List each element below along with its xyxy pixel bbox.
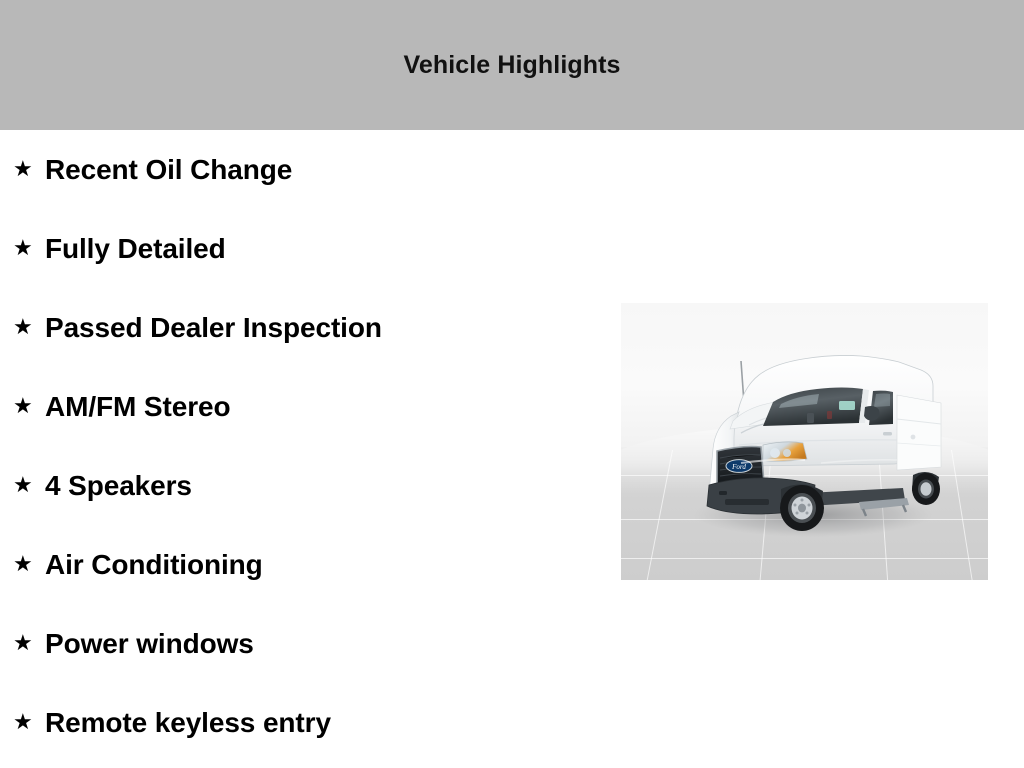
highlight-label: 4 Speakers: [45, 470, 600, 502]
list-item: ★ 4 Speakers: [0, 446, 600, 525]
list-item: ★ Passed Dealer Inspection: [0, 288, 600, 367]
highlight-label: AM/FM Stereo: [45, 391, 600, 423]
star-icon: ★: [13, 237, 45, 259]
highlight-label: Remote keyless entry: [45, 707, 600, 739]
star-icon: ★: [13, 474, 45, 496]
list-item: ★ Remote keyless entry: [0, 683, 600, 762]
star-icon: ★: [13, 553, 45, 575]
page-title: Vehicle Highlights: [0, 0, 1024, 130]
vehicle-highlights-list: ★ Recent Oil Change ★ Fully Detailed ★ P…: [0, 130, 600, 762]
header-bar: Vehicle Highlights: [0, 0, 1024, 130]
list-item: ★ AM/FM Stereo: [0, 367, 600, 446]
star-icon: ★: [13, 632, 45, 654]
list-item: ★ Recent Oil Change: [0, 130, 600, 209]
highlight-label: Passed Dealer Inspection: [45, 312, 600, 344]
highlight-label: Power windows: [45, 628, 600, 660]
star-icon: ★: [13, 395, 45, 417]
star-icon: ★: [13, 158, 45, 180]
cargo-van-illustration: Ford: [621, 303, 988, 580]
star-icon: ★: [13, 316, 45, 338]
highlight-label: Air Conditioning: [45, 549, 600, 581]
vehicle-photo: Ford: [621, 303, 988, 580]
highlight-label: Recent Oil Change: [45, 154, 600, 186]
list-item: ★ Power windows: [0, 604, 600, 683]
highlight-label: Fully Detailed: [45, 233, 600, 265]
list-item: ★ Fully Detailed: [0, 209, 600, 288]
content-area: ★ Recent Oil Change ★ Fully Detailed ★ P…: [0, 130, 1024, 768]
list-item: ★ Air Conditioning: [0, 525, 600, 604]
star-icon: ★: [13, 711, 45, 733]
svg-text:Ford: Ford: [731, 463, 746, 471]
